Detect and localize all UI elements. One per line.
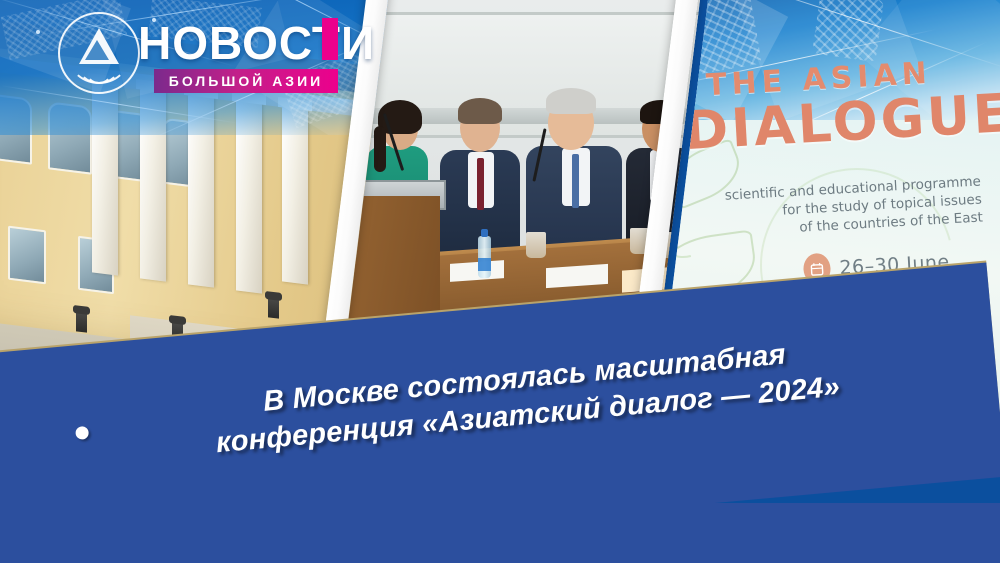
brand-subtitle-ribbon: БОЛЬШОЙ АЗИИ [154,69,338,93]
street-lamp [268,297,279,318]
brand-title: НОВОСТИ [138,16,375,70]
brand-subtitle: БОЛЬШОЙ АЗИИ [169,73,323,89]
document [450,260,504,282]
street-lamp [76,311,87,332]
asian-dialogue-emblem-icon [58,12,140,94]
water-bottle [478,236,491,278]
news-card: THE ASIAN DIALOGUE scientific and educat… [0,0,1000,563]
paper-cup [526,232,546,258]
window [8,226,46,285]
brand-accent-bar [322,18,338,60]
headline-bullet [75,426,89,440]
brand-logo[interactable]: НОВОСТИ БОЛЬШОЙ АЗИИ [58,12,328,90]
